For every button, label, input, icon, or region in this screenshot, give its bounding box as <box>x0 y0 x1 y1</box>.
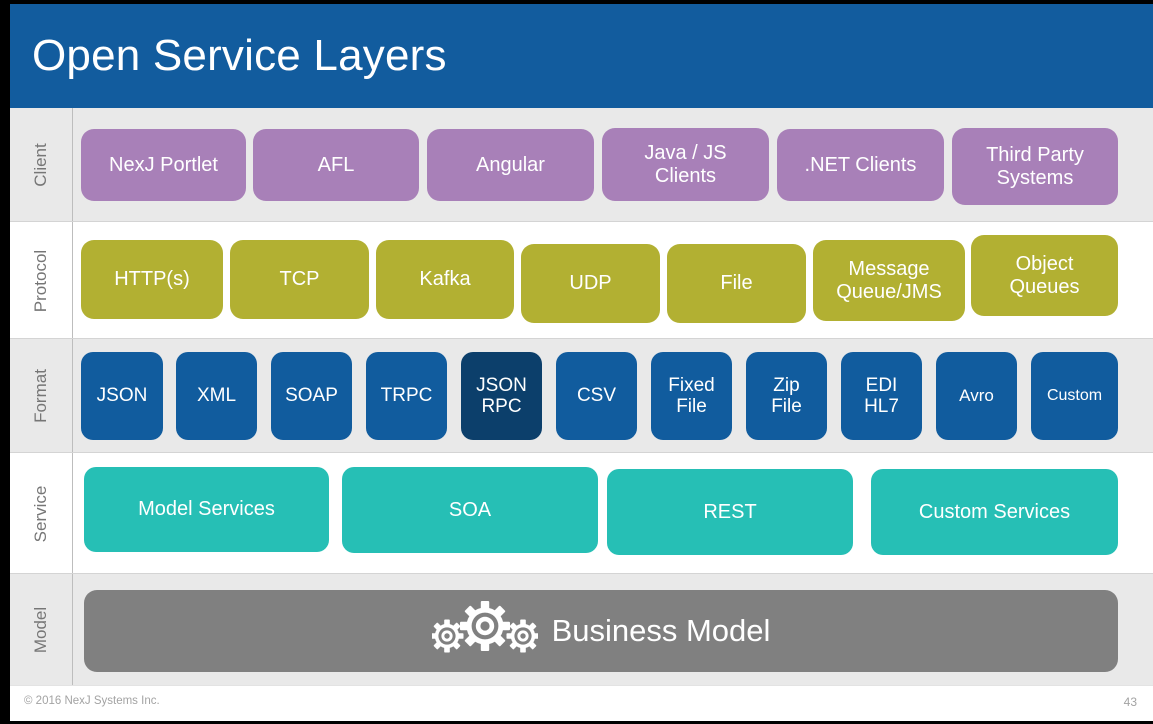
format-box-avro[interactable]: Avro <box>936 352 1017 440</box>
box-label: .NET Clients <box>805 154 917 177</box>
box-label: ZipFile <box>771 375 802 418</box>
protocol-box-kafka[interactable]: Kafka <box>376 240 514 319</box>
format-box-json[interactable]: JSON <box>81 352 163 440</box>
layer-label-service-cell: Service <box>10 453 72 574</box>
format-box-trpc[interactable]: TRPC <box>366 352 447 440</box>
layer-row-service: Service Model Services SOA REST Custom S… <box>10 453 1153 574</box>
service-box-custom-services[interactable]: Custom Services <box>871 469 1118 555</box>
box-label: Avro <box>959 386 994 405</box>
box-label: NexJ Portlet <box>109 154 218 177</box>
box-label: TCP <box>280 268 320 291</box>
box-label: UDP <box>569 272 611 295</box>
model-box-inner: Business Model <box>84 601 1118 660</box>
box-label: CSV <box>577 385 616 406</box>
layer-label-client-cell: Client <box>10 108 72 222</box>
service-box-model-services[interactable]: Model Services <box>84 467 329 552</box>
format-box-soap[interactable]: SOAP <box>271 352 352 440</box>
box-label: HTTP(s) <box>114 268 190 291</box>
box-label: MessageQueue/JMS <box>836 258 942 303</box>
box-label: FixedFile <box>668 375 714 418</box>
protocol-box-https[interactable]: HTTP(s) <box>81 240 223 319</box>
box-label: Custom <box>1047 387 1102 405</box>
layer-label-model: Model <box>31 607 51 653</box>
layer-row-format: Format JSON XML SOAP TRPC JSONRPC CSV Fi… <box>10 339 1153 453</box>
client-box-java-js-clients[interactable]: Java / JSClients <box>602 128 769 201</box>
layer-row-protocol: Protocol HTTP(s) TCP Kafka UDP File Mess… <box>10 222 1153 339</box>
layer-label-model-cell: Model <box>10 574 72 686</box>
page-title: Open Service Layers <box>10 31 447 81</box>
gears-icon <box>432 601 538 660</box>
box-label: JSON <box>97 385 148 406</box>
model-box-label: Business Model <box>552 613 771 648</box>
box-label: Kafka <box>419 268 470 291</box>
box-label: JSONRPC <box>476 375 527 418</box>
layer-row-model: Model <box>10 574 1153 686</box>
box-label: SOA <box>449 499 491 522</box>
layer-label-service: Service <box>31 485 51 542</box>
service-box-rest[interactable]: REST <box>607 469 853 555</box>
layer-content-protocol: HTTP(s) TCP Kafka UDP File MessageQueue/… <box>73 222 1153 339</box>
format-box-xml[interactable]: XML <box>176 352 257 440</box>
layer-label-protocol: Protocol <box>31 249 51 311</box>
slide-canvas: Open Service Layers Client NexJ Portlet … <box>0 0 1153 724</box>
layer-content-model: Business Model <box>73 574 1153 686</box>
layer-content-client: NexJ Portlet AFL Angular Java / JSClient… <box>73 108 1153 222</box>
box-label: TRPC <box>381 385 433 406</box>
client-box-afl[interactable]: AFL <box>253 129 419 201</box>
client-box-dotnet-clients[interactable]: .NET Clients <box>777 129 944 201</box>
box-label: ObjectQueues <box>1009 253 1079 298</box>
format-box-custom[interactable]: Custom <box>1031 352 1118 440</box>
layer-content-service: Model Services SOA REST Custom Services <box>73 453 1153 574</box>
box-label: Custom Services <box>919 501 1070 524</box>
format-box-edi-hl7[interactable]: EDIHL7 <box>841 352 922 440</box>
layer-label-format: Format <box>31 369 51 423</box>
client-box-angular[interactable]: Angular <box>427 129 594 201</box>
format-box-fixed-file[interactable]: FixedFile <box>651 352 732 440</box>
protocol-box-file[interactable]: File <box>667 244 806 323</box>
copyright-text: © 2016 NexJ Systems Inc. <box>24 695 160 707</box>
format-box-csv[interactable]: CSV <box>556 352 637 440</box>
client-box-nexj-portlet[interactable]: NexJ Portlet <box>81 129 246 201</box>
protocol-box-tcp[interactable]: TCP <box>230 240 369 319</box>
protocol-box-udp[interactable]: UDP <box>521 244 660 323</box>
box-label: Model Services <box>138 498 275 521</box>
protocol-box-object-queues[interactable]: ObjectQueues <box>971 235 1118 316</box>
layer-content-format: JSON XML SOAP TRPC JSONRPC CSV FixedFile… <box>73 339 1153 453</box>
service-box-soa[interactable]: SOA <box>342 467 598 553</box>
box-label: EDIHL7 <box>864 375 899 418</box>
layer-label-client: Client <box>31 143 51 186</box>
layer-row-client: Client NexJ Portlet AFL Angular Java / J… <box>10 108 1153 222</box>
protocol-box-message-queue-jms[interactable]: MessageQueue/JMS <box>813 240 965 321</box>
layer-label-protocol-cell: Protocol <box>10 222 72 339</box>
box-label: REST <box>703 501 756 524</box>
box-label: Third PartySystems <box>986 144 1084 189</box>
page-number: 43 <box>1124 695 1137 709</box>
layer-label-format-cell: Format <box>10 339 72 453</box>
box-label: AFL <box>318 154 355 177</box>
frame-edge-top <box>0 0 1153 4</box>
layers-grid: Client NexJ Portlet AFL Angular Java / J… <box>10 108 1153 686</box>
box-label: XML <box>197 385 236 406</box>
client-box-third-party-systems[interactable]: Third PartySystems <box>952 128 1118 205</box>
model-box-business-model[interactable]: Business Model <box>84 590 1118 672</box>
format-box-json-rpc[interactable]: JSONRPC <box>461 352 542 440</box>
format-box-zip-file[interactable]: ZipFile <box>746 352 827 440</box>
box-label: File <box>720 272 752 295</box>
title-banner: Open Service Layers <box>10 4 1153 108</box>
box-label: SOAP <box>285 385 338 406</box>
box-label: Java / JSClients <box>644 142 726 187</box>
box-label: Angular <box>476 154 545 177</box>
frame-edge-left <box>0 0 10 724</box>
slide-footer: © 2016 NexJ Systems Inc. 43 <box>10 685 1153 721</box>
